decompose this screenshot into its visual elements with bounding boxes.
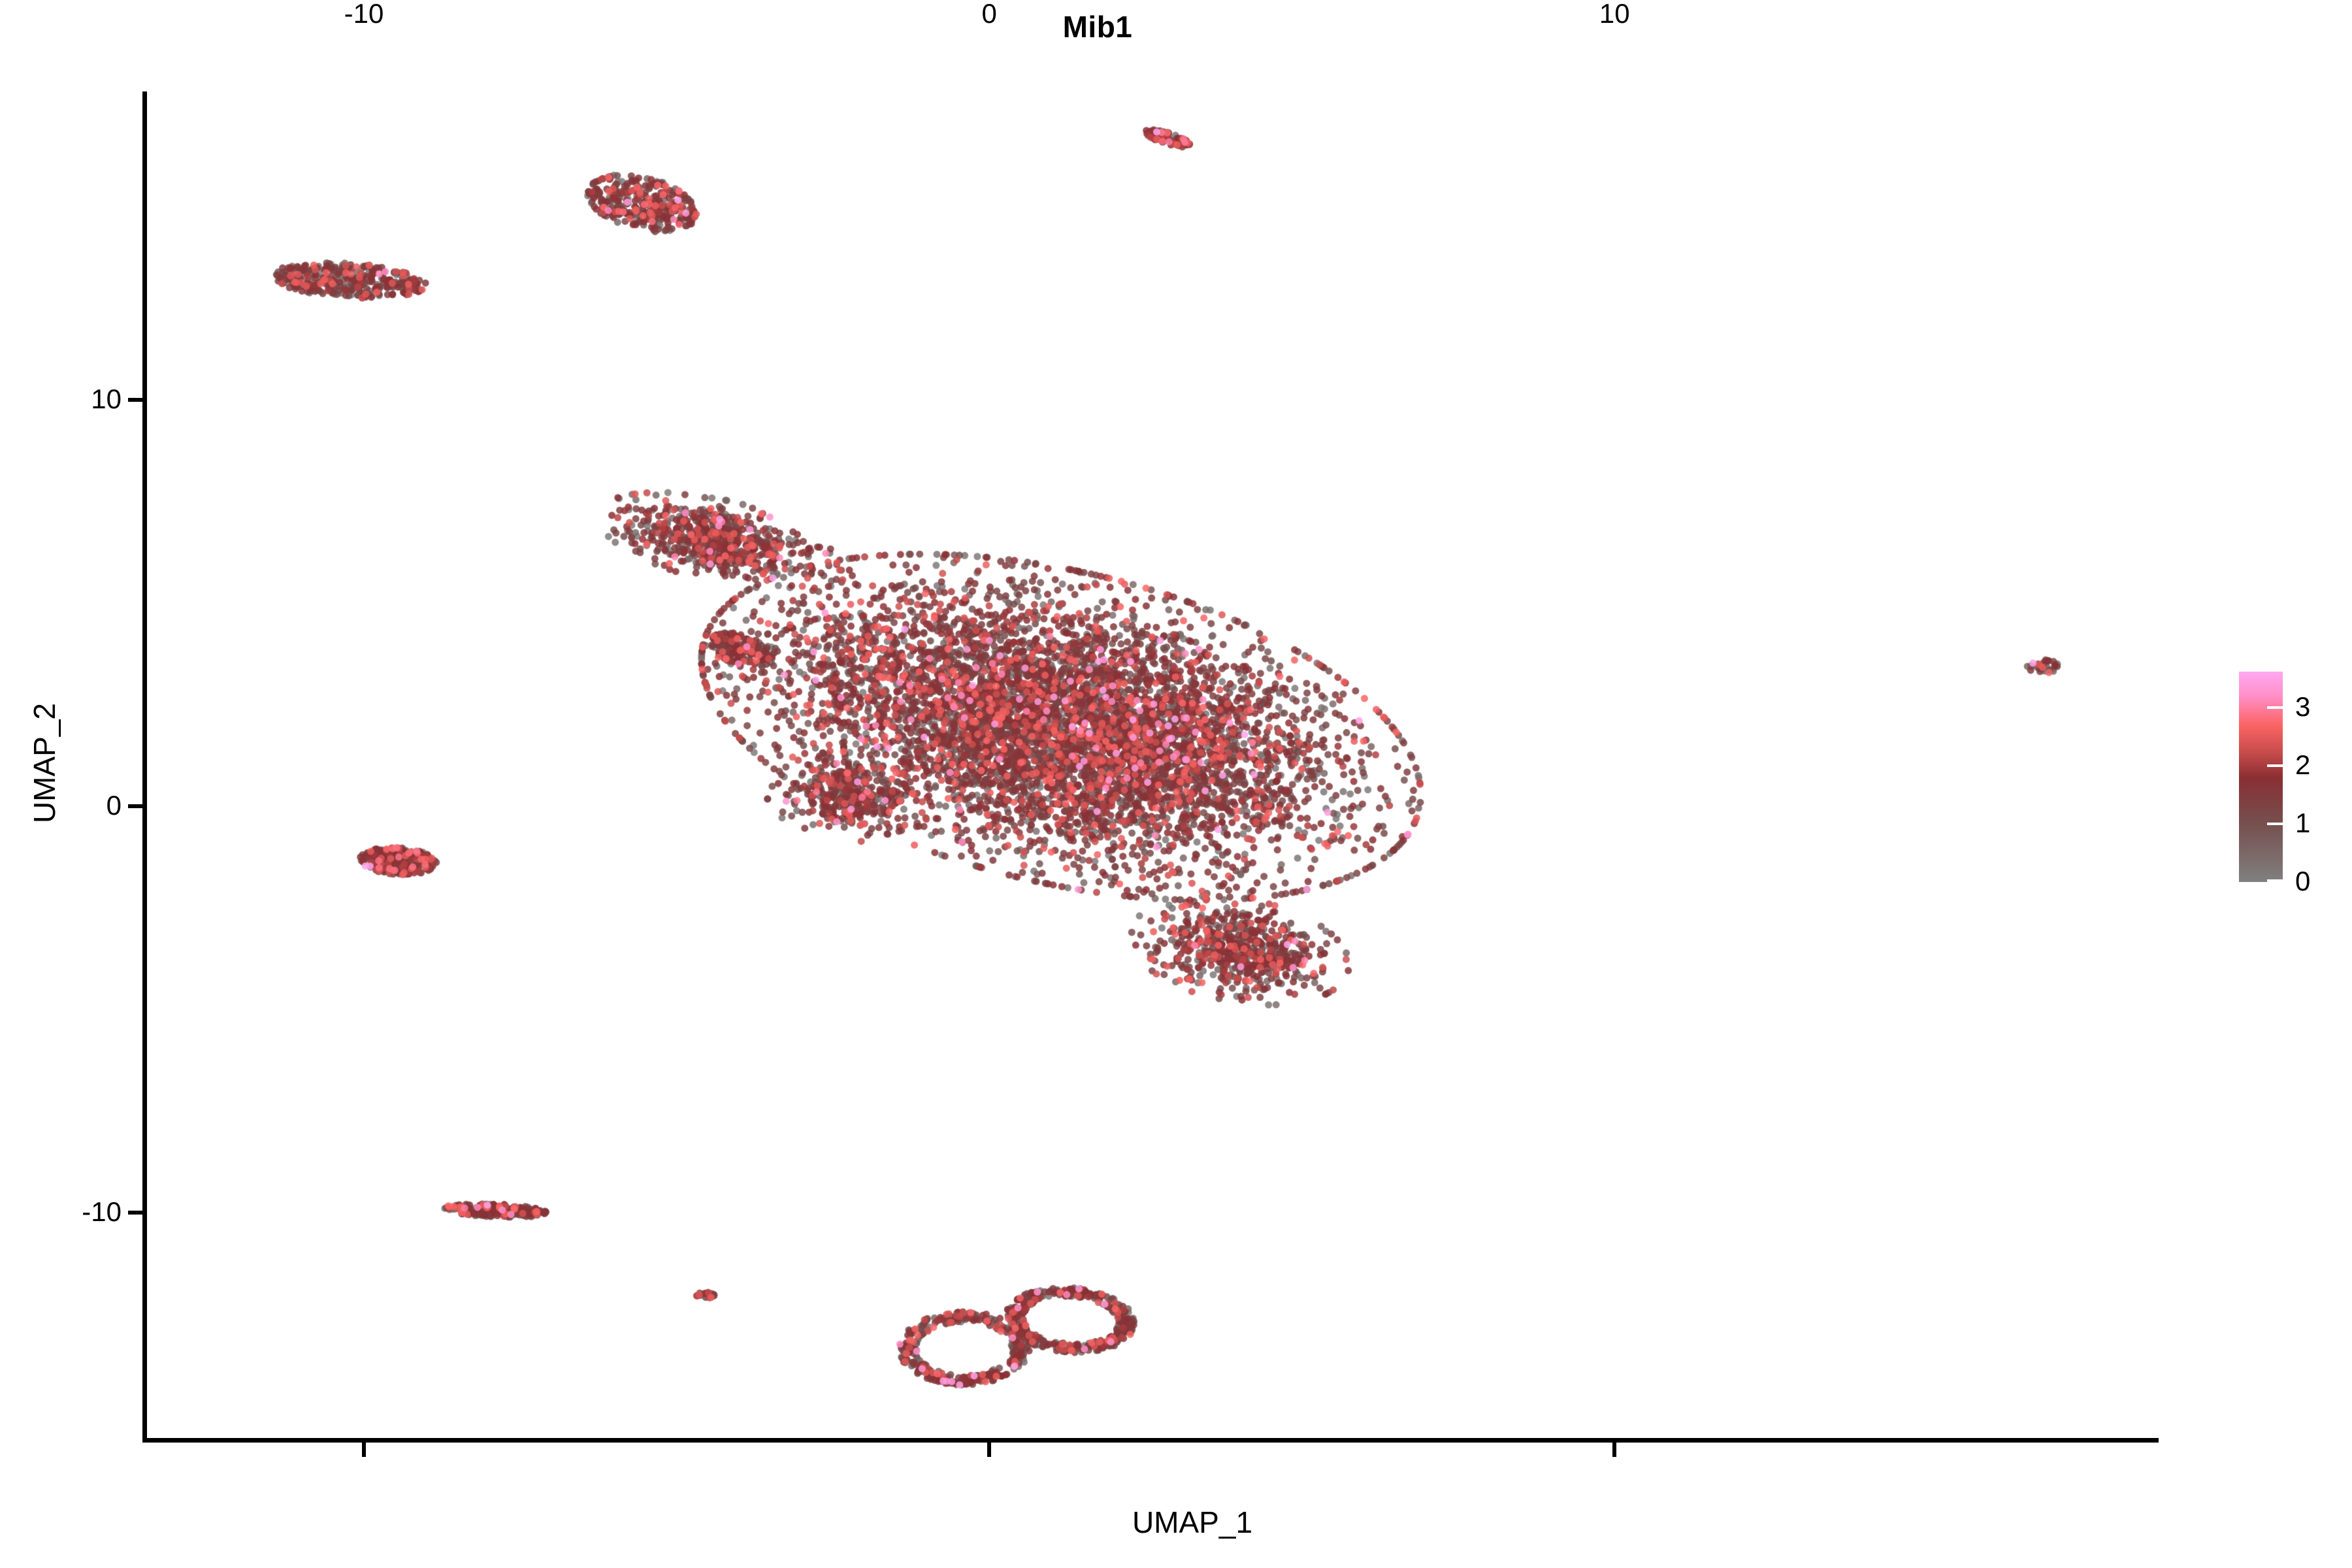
colorbar-label-2: 2 xyxy=(2295,751,2310,779)
colorbar-legend: 3 2 1 0 xyxy=(2239,672,2344,882)
colorbar-label-1: 1 xyxy=(2295,809,2310,837)
y-tick-mark-minus10 xyxy=(128,1211,142,1215)
y-tick-label-0: 0 xyxy=(106,792,122,819)
y-axis-title: UMAP_2 xyxy=(27,632,62,894)
y-axis-line xyxy=(142,91,147,1443)
scatter-points-canvas xyxy=(145,91,2159,1440)
y-tick-label-10: 10 xyxy=(91,385,122,413)
y-tick-label-minus10: -10 xyxy=(82,1198,122,1226)
colorbar-tick-1 xyxy=(2267,823,2283,825)
x-tick-label-10: 10 xyxy=(1549,0,1680,27)
colorbar-tick-3 xyxy=(2267,706,2283,709)
colorbar-gradient xyxy=(2239,672,2283,882)
y-tick-mark-0 xyxy=(128,804,142,808)
x-axis-title: UMAP_1 xyxy=(996,1505,1388,1540)
colorbar-tick-2 xyxy=(2267,764,2283,767)
colorbar-label-3: 3 xyxy=(2295,693,2310,721)
y-tick-mark-10 xyxy=(128,398,142,402)
x-tick-label-0: 0 xyxy=(924,0,1054,27)
colorbar-tick-0 xyxy=(2267,879,2283,882)
x-tick-label-minus10: -10 xyxy=(299,0,429,27)
x-tick-mark-0 xyxy=(987,1443,991,1457)
colorbar-label-0: 0 xyxy=(2295,868,2310,895)
x-axis-line xyxy=(142,1438,2159,1443)
plot-panel xyxy=(145,91,2159,1440)
x-tick-mark-minus10 xyxy=(362,1443,366,1457)
x-tick-mark-10 xyxy=(1612,1443,1616,1457)
umap-feature-plot-figure: Mib1 10 0 -10 -10 0 10 UMAP_1 UMAP_2 3 2… xyxy=(0,0,2352,1568)
